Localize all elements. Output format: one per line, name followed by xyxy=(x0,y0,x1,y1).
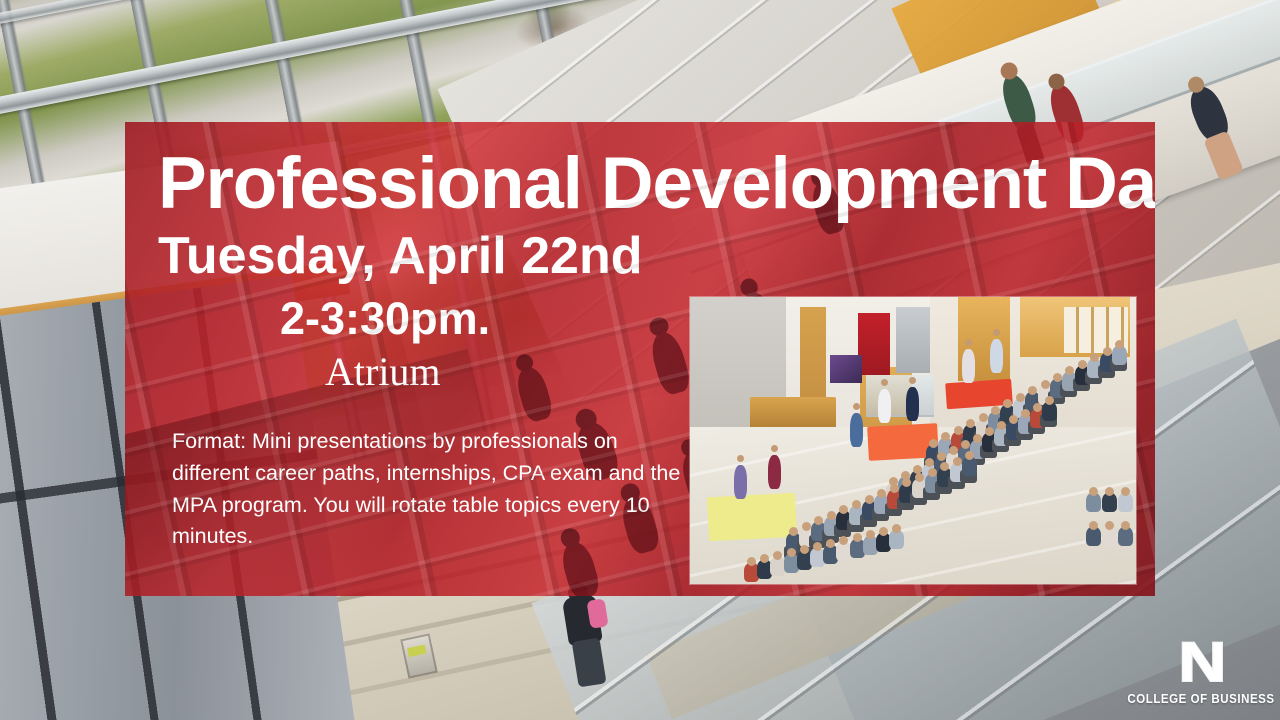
inset-attendee xyxy=(1102,493,1117,512)
inset-attendee xyxy=(962,457,977,476)
inset-presenter xyxy=(962,349,975,383)
inset-attendee xyxy=(1118,527,1133,546)
inset-presenter xyxy=(906,387,919,421)
university-logo: N COLLEGE OF BUSINESS xyxy=(1138,626,1264,706)
event-location: Atrium xyxy=(325,352,441,392)
event-format-description: Format: Mini presentations by profession… xyxy=(172,426,692,553)
figure-legs xyxy=(572,638,607,688)
inset-presenter xyxy=(734,465,747,499)
inset-table-yellow xyxy=(707,493,797,542)
nebraska-n-icon: N xyxy=(1178,639,1223,685)
inset-event-photo xyxy=(690,297,1136,584)
inset-red-door xyxy=(858,313,890,375)
inset-bench xyxy=(750,397,836,431)
inset-display-screen xyxy=(830,355,862,383)
inset-presenter xyxy=(850,413,863,447)
inset-attendee xyxy=(1118,493,1133,512)
inset-presenter xyxy=(878,389,891,423)
inset-attendee xyxy=(1102,527,1117,546)
inset-attendee xyxy=(1086,527,1101,546)
college-wordmark: COLLEGE OF BUSINESS xyxy=(1127,692,1274,706)
inset-elevator xyxy=(896,307,930,373)
inset-attendee xyxy=(1042,402,1057,421)
event-time: 2-3:30pm. xyxy=(280,296,490,341)
event-date: Tuesday, April 22nd xyxy=(158,230,642,282)
presentation-slide: Professional Development Day Tuesday, Ap… xyxy=(0,0,1280,720)
inset-attendee xyxy=(1112,346,1127,365)
event-title: Professional Development Day xyxy=(158,147,1155,220)
inset-presenter xyxy=(768,455,781,489)
inset-glass-rail xyxy=(866,375,934,417)
inset-presenter xyxy=(990,339,1003,373)
inset-attendee xyxy=(889,530,904,549)
inset-attendee xyxy=(1086,493,1101,512)
